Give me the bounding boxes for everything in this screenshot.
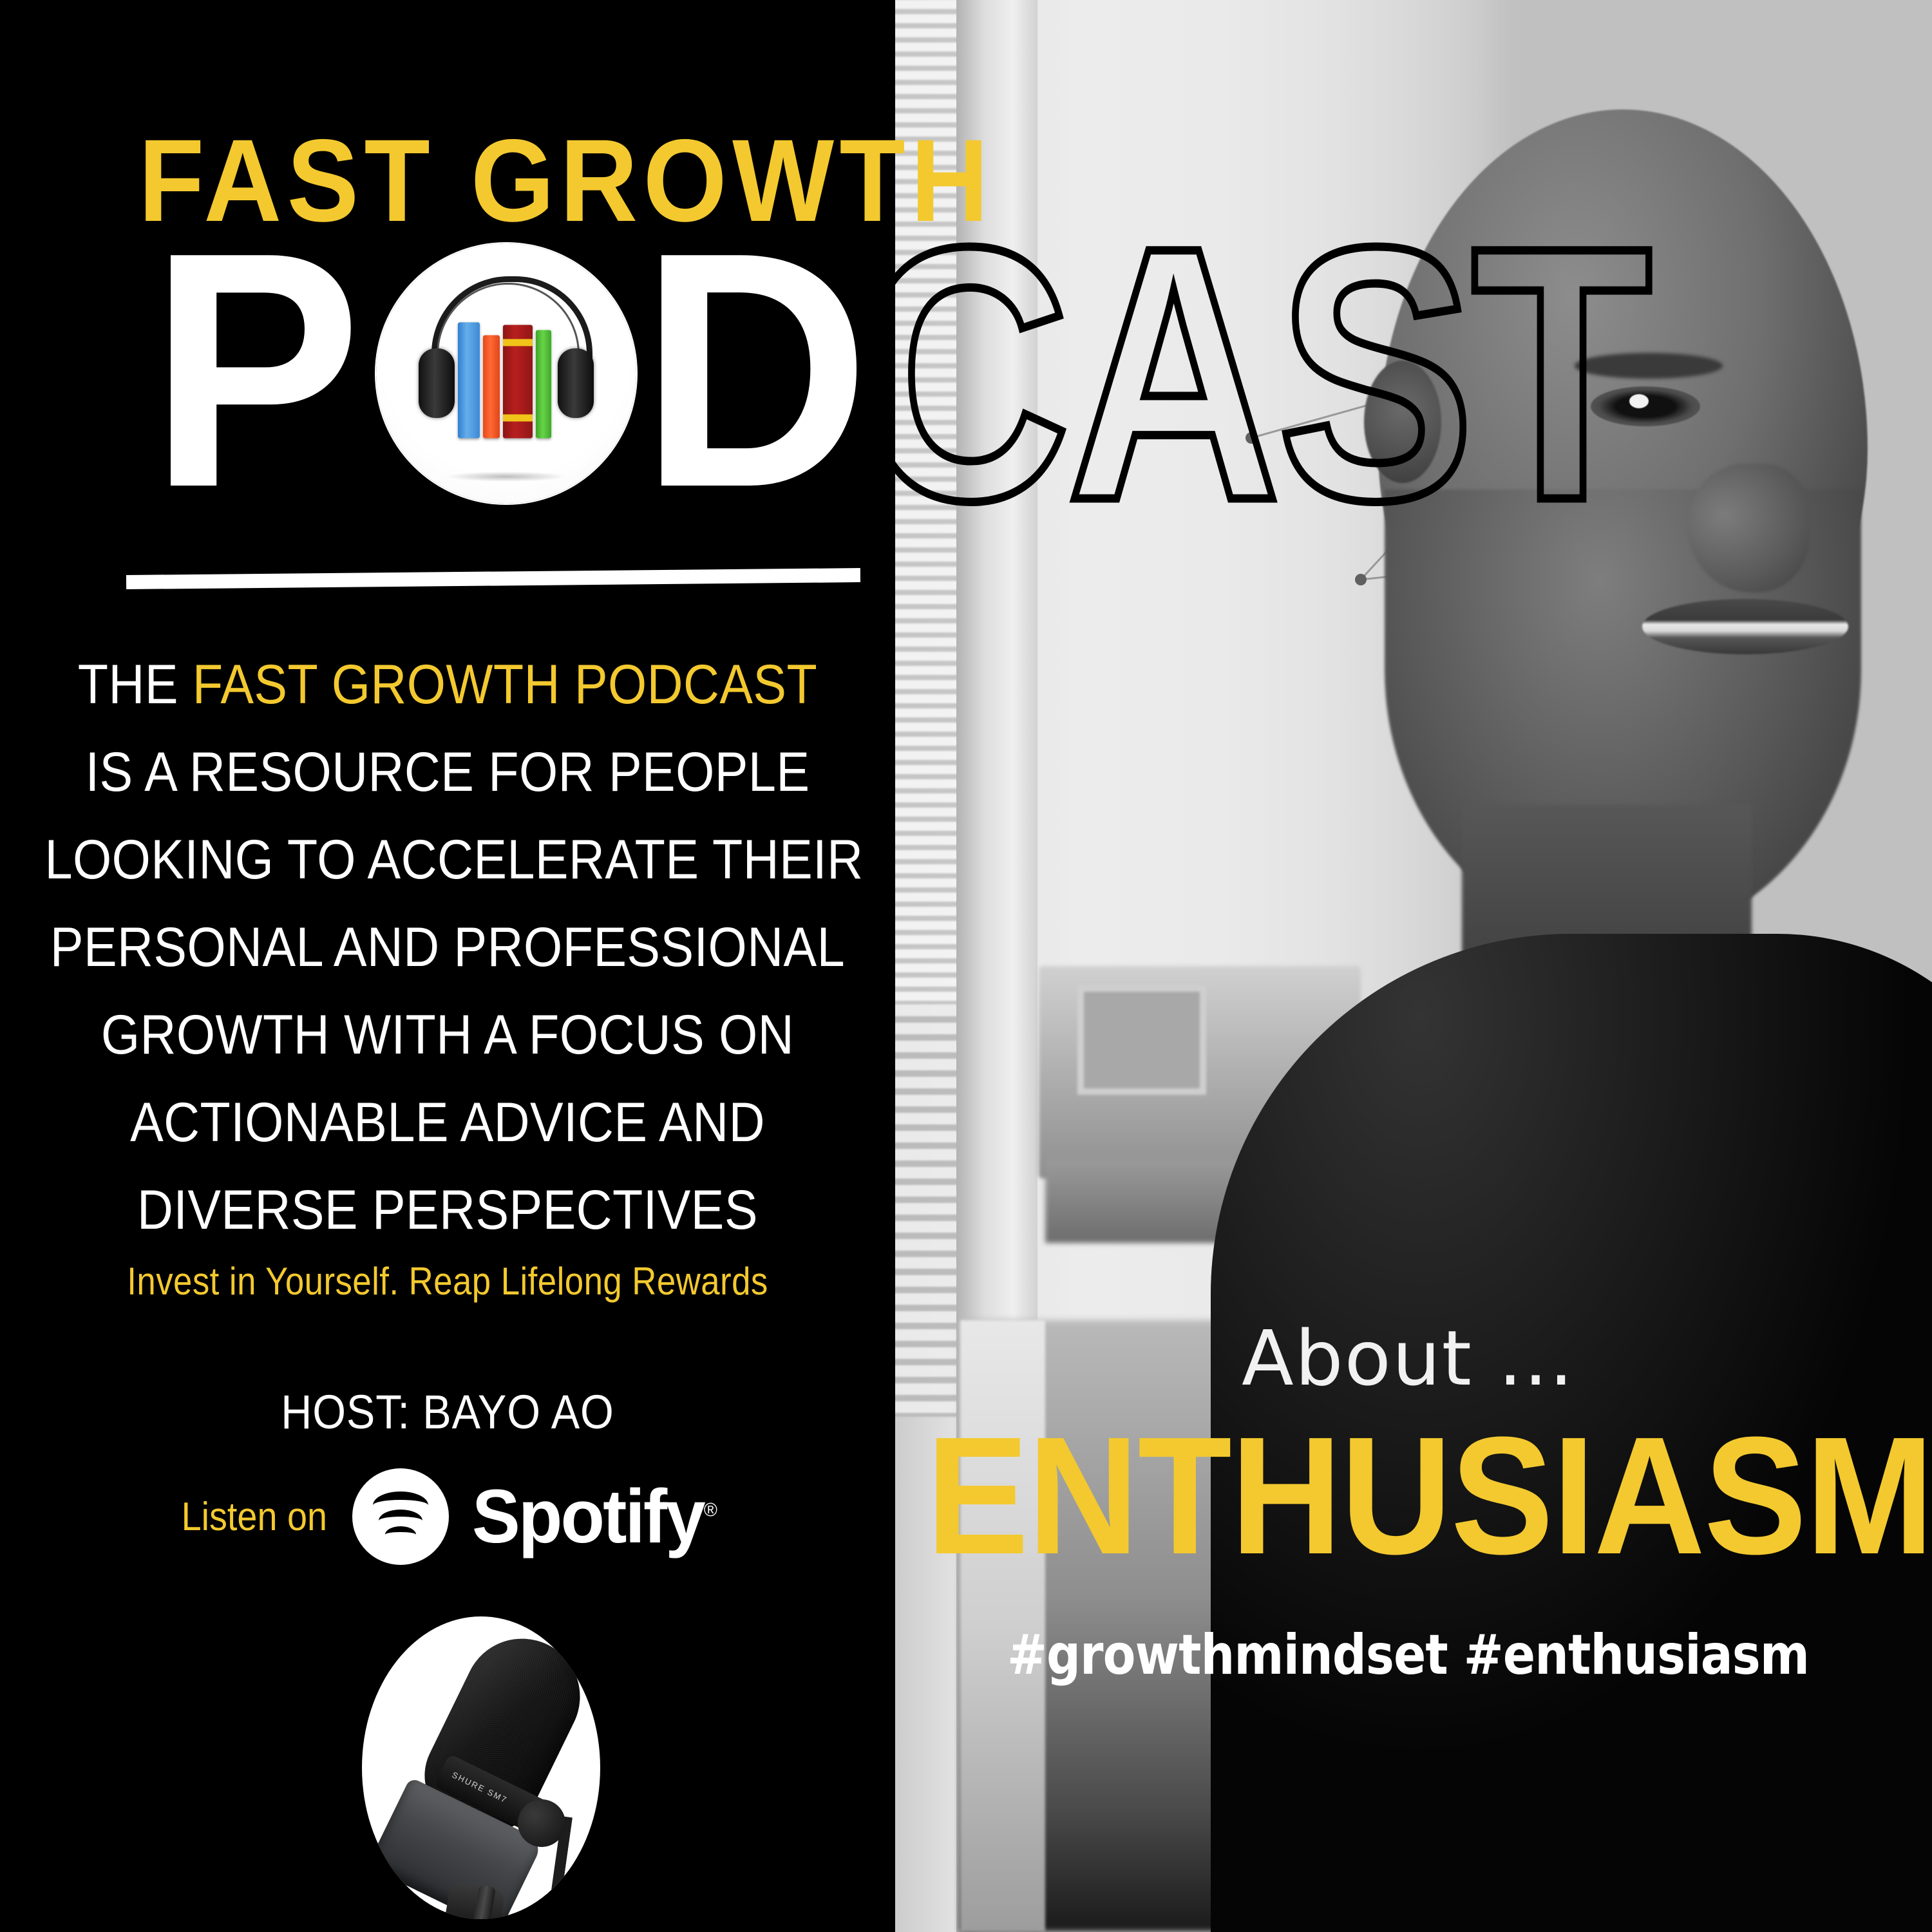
description-line-5: GROWTH WITH A FOCUS ON [45,991,851,1079]
headphones-icon [422,330,590,427]
divider-line [126,568,860,589]
left-info-panel: FAST GROWTH P D [0,0,895,1932]
description-line-3: LOOKING TO ACCELERATE THEIR [45,816,851,904]
host-credit: HOST: BAYO AO [45,1385,851,1439]
about-label: About ... [884,1314,1932,1403]
chair-shape [1077,985,1206,1095]
tagline: Invest in Yourself. Reap Lifelong Reward… [53,1259,841,1303]
description-line-4: PERSONAL AND PROFESSIONAL [45,904,851,991]
description-line-1-prefix: THE [78,654,193,715]
title-letter-p: P [149,232,355,509]
title-letter-d: D [640,232,864,509]
headphone-earcup-right [558,348,594,418]
description-line-6: ACTIONABLE ADVICE AND [45,1079,851,1166]
description-line-1: THE FAST GROWTH PODCAST [45,641,851,728]
episode-hashtags: #growthmindset #enthusiasm [958,1623,1859,1687]
headphone-earcup-left [419,348,455,418]
spotify-wordmark-text: Spotify [472,1474,704,1559]
headphones-books-logo-icon [376,243,636,504]
mouth-shape [1642,599,1848,654]
description-block: THE FAST GROWTH PODCAST IS A RESOURCE FO… [45,641,851,1254]
description-line-7: DIVERSE PERSPECTIVES [45,1166,851,1254]
episode-topic: ENTHUSIASM [926,1404,1890,1588]
spotify-wave-3 [385,1526,416,1543]
spotify-registered-mark: ® [704,1500,715,1521]
description-line-2: IS A RESOURCE FOR PEOPLE [45,728,851,816]
microphone-photo: SHURE SM7 [362,1616,600,1919]
spotify-wordmark: Spotify® [472,1473,715,1560]
spotify-listen-badge[interactable]: Listen on Spotify® [0,1468,895,1565]
logo-drop-shadow [445,471,567,482]
spotify-logo-icon [352,1468,449,1565]
listen-on-label: Listen on [182,1494,327,1540]
microphone-pivot-knob [518,1799,565,1847]
podcast-cover-art: CAST FAST GROWTH P D [0,0,1932,1932]
description-line-1-highlight: FAST GROWTH PODCAST [193,654,817,715]
